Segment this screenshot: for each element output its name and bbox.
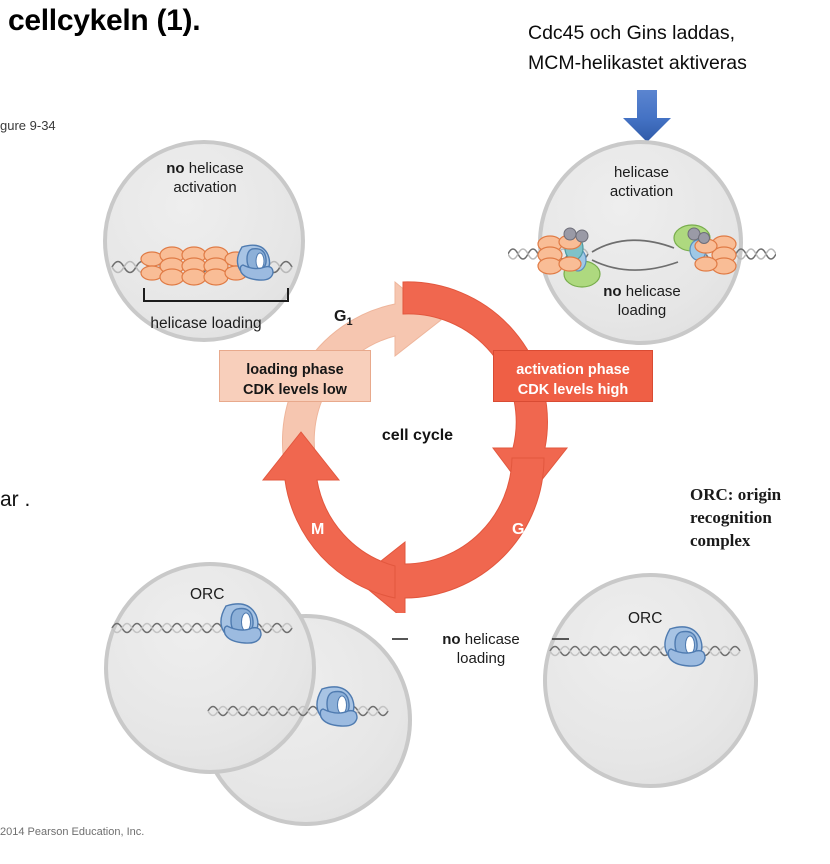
phase-box-loading: loading phase CDK levels low xyxy=(219,350,371,402)
cell-cycle-figure: no helicase activation xyxy=(0,0,830,864)
box-line-1: loading phase xyxy=(220,360,370,380)
box-line-2: CDK levels low xyxy=(220,380,370,400)
label-line-1: no helicase xyxy=(146,159,264,178)
dna-with-orc-g2 xyxy=(548,623,758,673)
label-line-1: no helicase xyxy=(406,630,556,649)
cell-cycle-center-label: cell cycle xyxy=(370,427,465,445)
phase-label-s: S xyxy=(510,305,521,323)
phase-box-activation: activation phase CDK levels high xyxy=(493,350,653,402)
label-line-1: no helicase xyxy=(583,282,701,301)
label-helicase-activation: helicase activation xyxy=(584,163,699,201)
dna-with-orc-daughter-1 xyxy=(110,600,310,650)
box-line-2: CDK levels high xyxy=(494,380,652,400)
label-no-helicase-activation: no helicase activation xyxy=(146,159,264,197)
label-no-helicase-loading-s: no helicase loading xyxy=(583,282,701,320)
label-line-2: activation xyxy=(146,178,264,197)
label-line-2: loading xyxy=(406,649,556,668)
phase-label-m: M xyxy=(311,521,324,539)
label-line-2: loading xyxy=(583,301,701,320)
label-line-2: activation xyxy=(584,182,699,201)
label-line-1: helicase xyxy=(584,163,699,182)
phase-label-g1: G1 xyxy=(334,308,353,328)
dna-with-orc-daughter-2 xyxy=(206,683,406,733)
label-no-helicase-loading-center: no helicase loading xyxy=(406,630,556,668)
box-line-1: activation phase xyxy=(494,360,652,380)
phase-label-g2: G2 xyxy=(512,521,531,541)
